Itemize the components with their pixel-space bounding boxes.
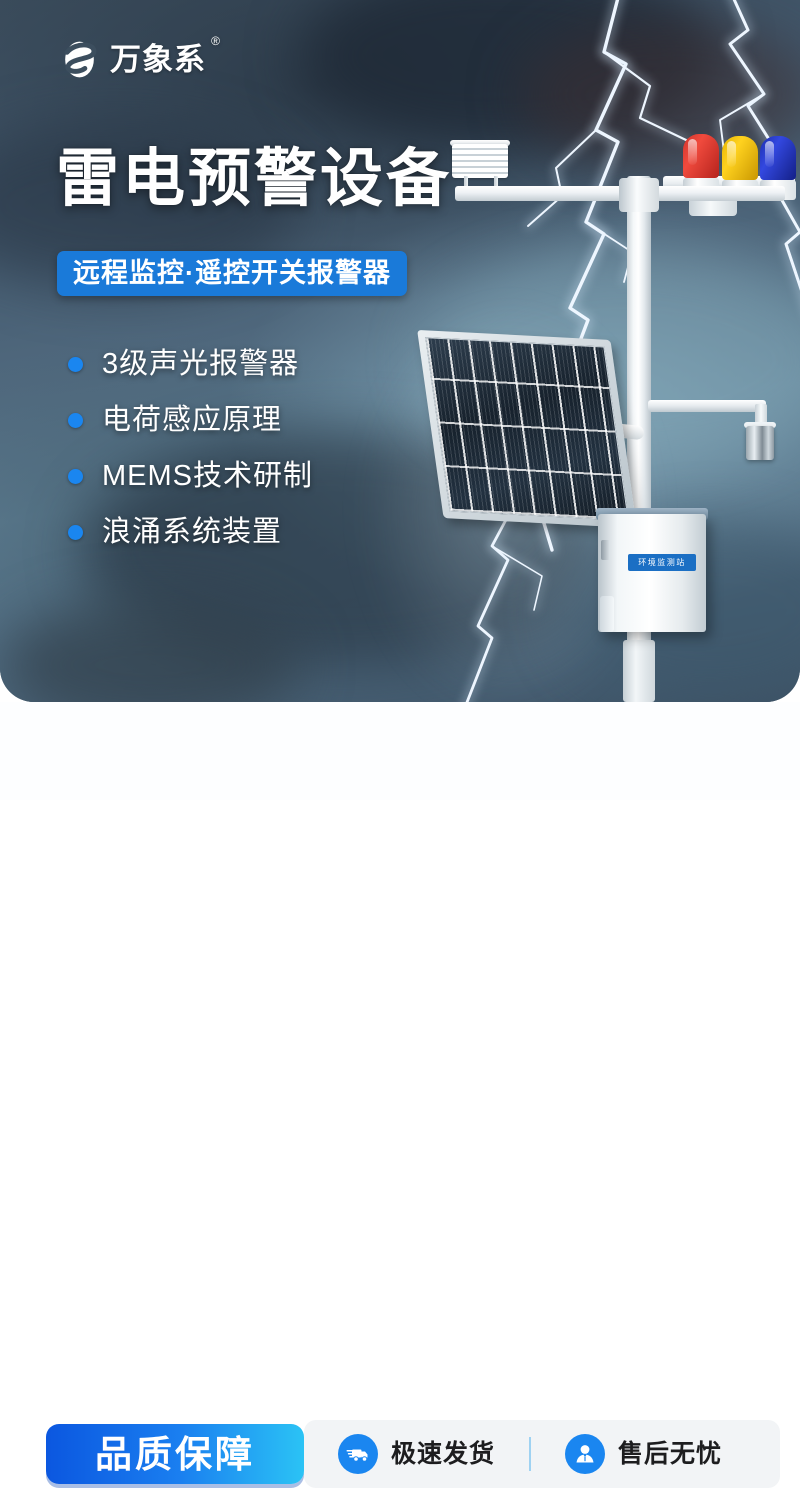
- brand-logo: 万象系 ®: [58, 38, 206, 81]
- service-divider: [529, 1437, 531, 1471]
- mast-collar: [619, 178, 659, 212]
- feature-label: 3级声光报警器: [102, 350, 299, 379]
- blue-dot-icon: [68, 357, 83, 372]
- camera-sensor: [746, 426, 774, 460]
- page-title: 雷电预警设备: [56, 148, 452, 211]
- feature-label: 电荷感应原理: [102, 406, 282, 435]
- solar-panel: [417, 330, 637, 528]
- control-box: [598, 514, 706, 632]
- delivery-truck-icon: [338, 1434, 378, 1474]
- service-label: 极速发货: [391, 1442, 495, 1467]
- control-box-vent: [600, 596, 614, 632]
- list-item: 电荷感应原理: [68, 406, 313, 435]
- service-after-sales: 售后无忧: [565, 1434, 722, 1474]
- list-item: 浪涌系统装置: [68, 518, 313, 547]
- control-box-latch: [601, 540, 610, 560]
- blue-dot-icon: [68, 469, 83, 484]
- mast-base: [623, 640, 655, 702]
- registered-mark-icon: ®: [211, 35, 221, 47]
- radiation-shield-sensor: [452, 144, 508, 178]
- blue-dot-icon: [68, 525, 83, 540]
- hero-image: 环境监测站 万象系 ® 雷电预警设备 远程监控·遥控开关报警器 3级声光报警器: [0, 0, 800, 702]
- brand-name: 万象系 ®: [110, 44, 206, 75]
- brand-name-text: 万象系: [110, 42, 206, 77]
- subtitle-banner-text: 远程监控·遥控开关报警器: [73, 260, 391, 287]
- subtitle-banner: 远程监控·遥控开关报警器: [57, 251, 407, 296]
- feature-label: MEMS技术研制: [102, 462, 313, 491]
- service-label: 售后无忧: [618, 1442, 722, 1467]
- support-agent-icon: [565, 1434, 605, 1474]
- blue-dot-icon: [68, 413, 83, 428]
- feature-list: 3级声光报警器 电荷感应原理 MEMS技术研制 浪涌系统装置: [68, 350, 313, 547]
- feature-label: 浪涌系统装置: [102, 518, 282, 547]
- list-item: MEMS技术研制: [68, 462, 313, 491]
- product-poster: 环境监测站 万象系 ® 雷电预警设备 远程监控·遥控开关报警器 3级声光报警器: [0, 0, 800, 800]
- sensor-arm: [648, 400, 766, 412]
- service-fast-shipping: 极速发货: [338, 1434, 495, 1474]
- swoosh-oval-logo-icon: [58, 38, 101, 81]
- control-box-label: 环境监测站: [628, 554, 696, 571]
- service-strip: 极速发货 售后无忧: [304, 1420, 780, 1488]
- quality-badge: 品质保障: [46, 1424, 304, 1484]
- control-box-label-text: 环境监测站: [638, 559, 686, 567]
- list-item: 3级声光报警器: [68, 350, 313, 379]
- footer-bar: 品质保障 极速发货: [0, 702, 800, 800]
- quality-badge-text: 品质保障: [95, 1436, 255, 1473]
